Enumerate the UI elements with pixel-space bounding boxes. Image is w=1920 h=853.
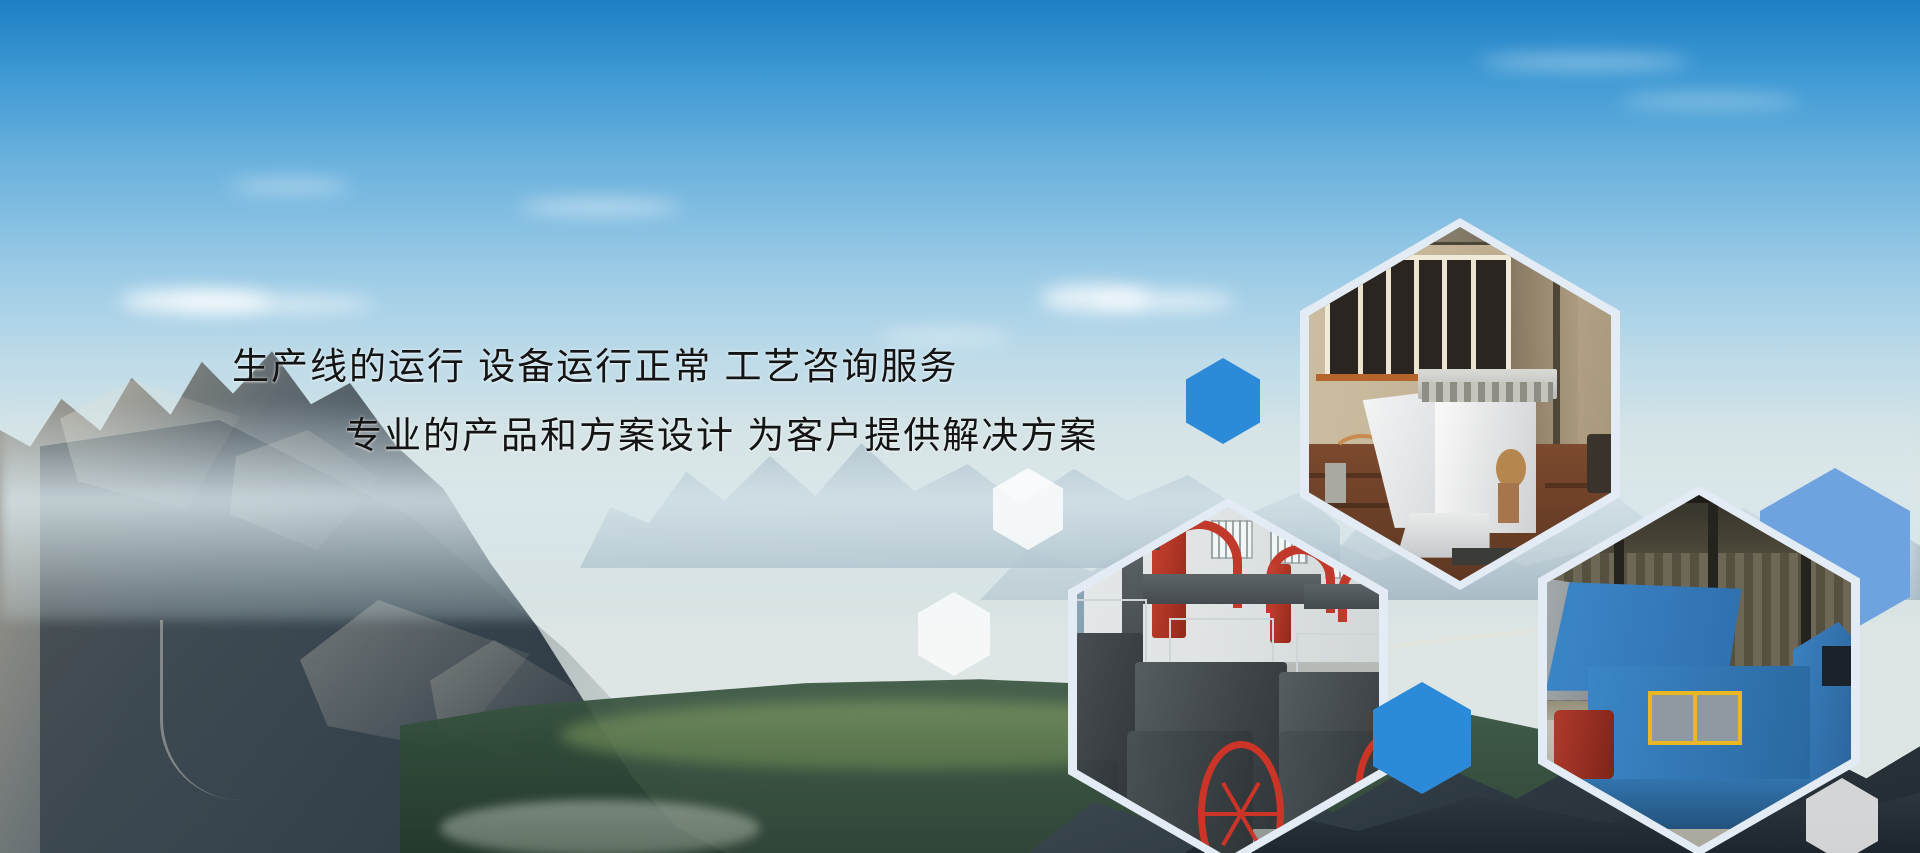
hero-banner: 生产线的运行 设备运行正常 工艺咨询服务 专业的产品和方案设计 为客户提供解决方… [0,0,1920,853]
headline-line-1: 生产线的运行 设备运行正常 工艺咨询服务 [232,336,959,390]
photo-hex-press-line[interactable] [1068,498,1388,853]
headline-line-2: 专业的产品和方案设计 为客户提供解决方案 [345,405,1098,459]
